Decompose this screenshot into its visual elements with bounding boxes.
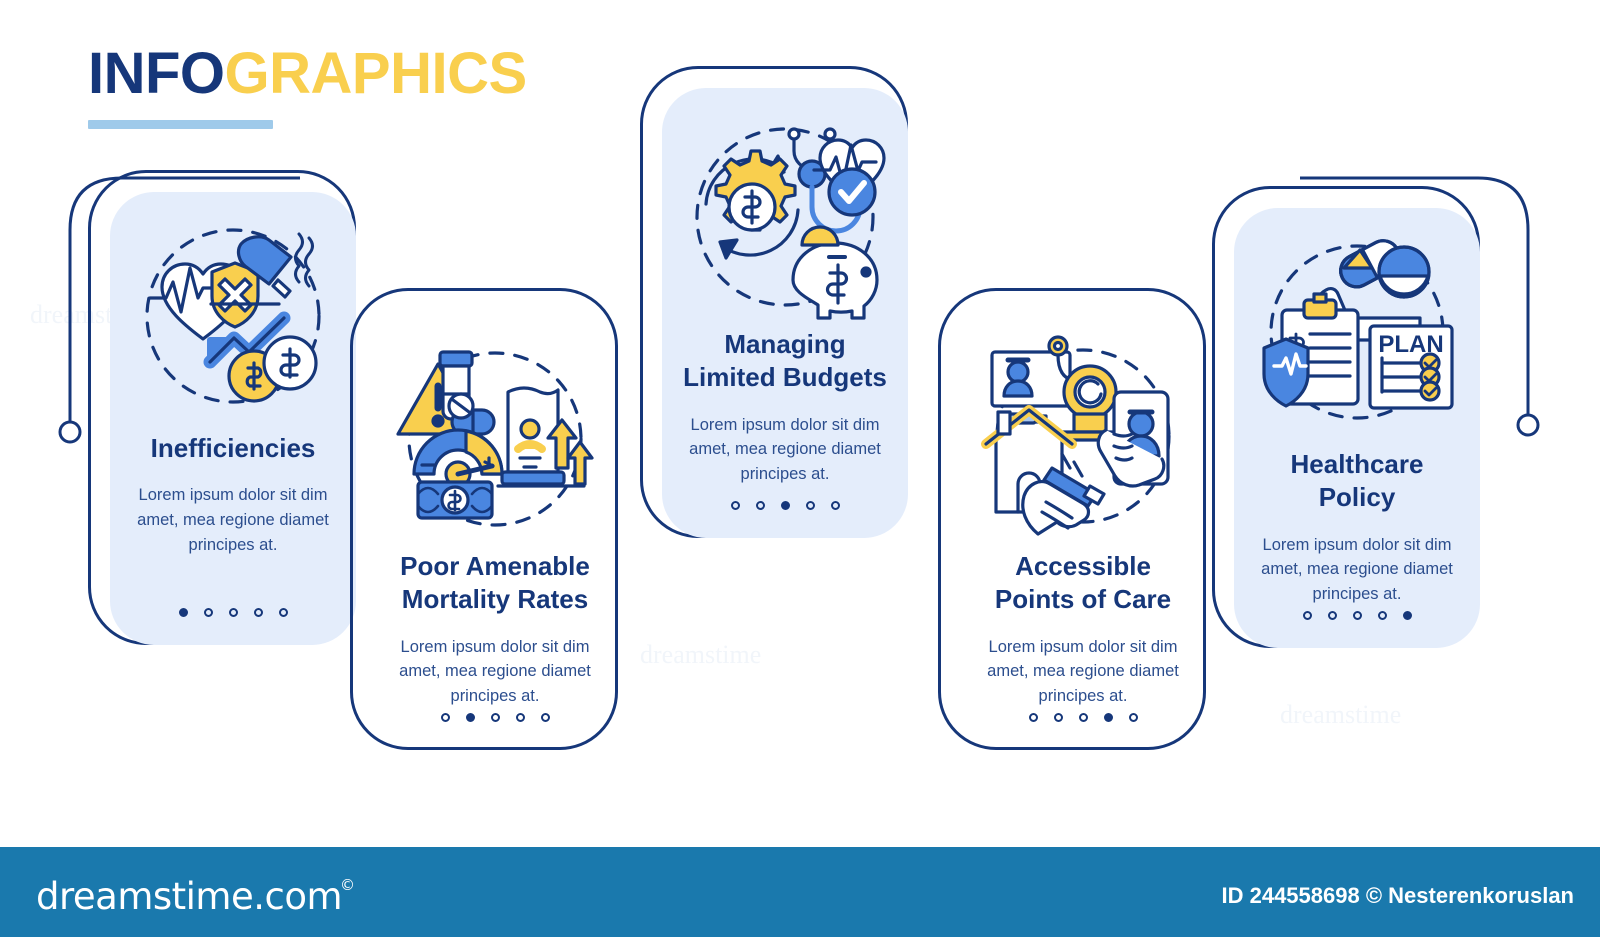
step-dot[interactable] <box>1378 611 1387 620</box>
step-card-healthcare-policy[interactable]: PLAN Healthcare Policy Lorem ipsum dolor… <box>1212 186 1480 648</box>
image-credit: ID 244558698 © Nesterenkoruslan <box>1221 883 1574 909</box>
step-dot[interactable] <box>229 608 238 617</box>
footer-bar: dreamstime.com© ID 244558698 © Nesterenk… <box>0 847 1600 937</box>
step-card-accessible-points-of-care[interactable]: Accessible Points of Care Lorem ipsum do… <box>938 288 1206 750</box>
step-dot[interactable] <box>491 713 500 722</box>
step-dot[interactable] <box>179 608 188 617</box>
warning-medication-gauge-icon <box>390 334 600 544</box>
step-dot[interactable] <box>466 713 475 722</box>
step-dot[interactable] <box>541 713 550 722</box>
card-title: Accessible Points of Care <box>995 550 1171 617</box>
dreamstime-logo-text: dreamstime.com <box>36 875 342 918</box>
infographic-canvas: dreamstime dreamstime dreamstime INFOGRA… <box>0 0 1600 937</box>
step-card-inefficiencies[interactable]: Inefficiencies Lorem ipsum dolor sit dim… <box>88 170 356 645</box>
step-dot[interactable] <box>1328 611 1337 620</box>
card-description: Lorem ipsum dolor sit dim amet, mea regi… <box>978 635 1188 709</box>
step-dot[interactable] <box>254 608 263 617</box>
step-card-poor-amenable-mortality-rates[interactable]: Poor Amenable Mortality Rates Lorem ipsu… <box>350 288 618 750</box>
dreamstime-logo[interactable]: dreamstime.com© <box>36 875 357 918</box>
step-indicator[interactable] <box>731 501 840 512</box>
step-dot[interactable] <box>806 501 815 510</box>
card-description: Lorem ipsum dolor sit dim amet, mea regi… <box>1252 533 1462 607</box>
step-dot[interactable] <box>756 501 765 510</box>
heart-shield-declining-cost-icon <box>128 216 338 426</box>
card-description: Lorem ipsum dolor sit dim amet, mea regi… <box>680 413 890 487</box>
step-dot[interactable] <box>1054 713 1063 722</box>
card-title: Healthcare Policy <box>1291 448 1424 515</box>
card-title: Managing Limited Budgets <box>683 328 887 395</box>
step-indicator[interactable] <box>1029 713 1138 724</box>
step-dot[interactable] <box>1129 713 1138 722</box>
card-description: Lorem ipsum dolor sit dim amet, mea regi… <box>128 483 338 557</box>
step-dot[interactable] <box>1353 611 1362 620</box>
step-dot[interactable] <box>1029 713 1038 722</box>
card-title: Inefficiencies <box>151 432 316 465</box>
step-indicator[interactable] <box>179 608 288 619</box>
step-dot[interactable] <box>781 501 790 510</box>
card-title: Poor Amenable Mortality Rates <box>400 550 590 617</box>
step-indicator[interactable] <box>441 713 550 724</box>
step-dot[interactable] <box>279 608 288 617</box>
registered-mark-icon: © <box>340 876 355 894</box>
step-dot[interactable] <box>441 713 450 722</box>
step-dot[interactable] <box>1303 611 1312 620</box>
step-card-managing-limited-budgets[interactable]: Managing Limited Budgets Lorem ipsum dol… <box>640 66 908 538</box>
telemedicine-home-visit-icon <box>978 334 1188 544</box>
step-dot[interactable] <box>1104 713 1113 722</box>
step-dot[interactable] <box>516 713 525 722</box>
card-description: Lorem ipsum dolor sit dim amet, mea regi… <box>390 635 600 709</box>
step-dot[interactable] <box>1403 611 1412 620</box>
gear-dollar-stethoscope-piggybank-icon <box>680 112 890 322</box>
step-dot[interactable] <box>204 608 213 617</box>
step-dot[interactable] <box>1079 713 1088 722</box>
step-dot[interactable] <box>831 501 840 510</box>
pills-clipboard-plan-icon: PLAN <box>1252 232 1462 442</box>
step-dot[interactable] <box>731 501 740 510</box>
step-indicator[interactable] <box>1303 611 1412 622</box>
